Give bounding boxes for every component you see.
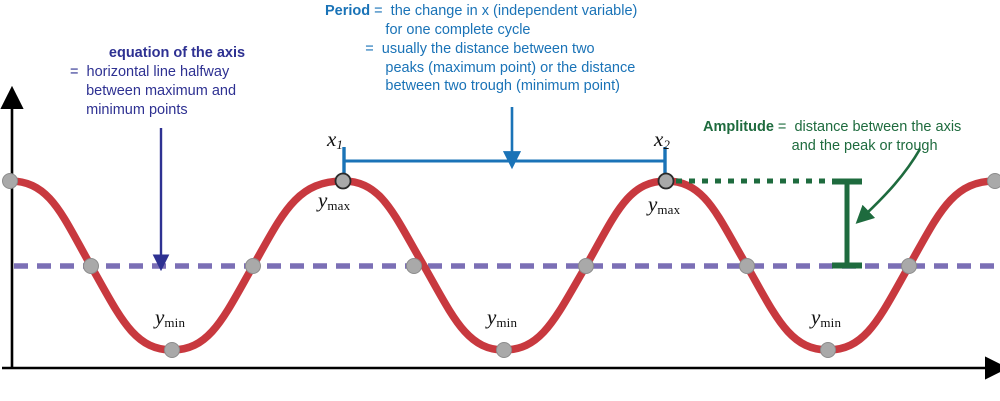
- label-ymin-1: ymin: [155, 305, 185, 331]
- period-annotation: Period = the change in x (independent va…: [325, 2, 725, 96]
- label-ymax-left: ymax: [318, 188, 350, 214]
- label-ymin-3: ymin: [811, 305, 841, 331]
- equation-of-axis-heading: equation of the axis: [62, 44, 292, 63]
- period-line-2: for one complete cycle: [325, 21, 725, 40]
- equation-of-axis-line-1: = horizontal line halfway: [70, 64, 229, 80]
- label-x2: x2: [654, 127, 670, 153]
- amplitude-annotation: Amplitude = distance between the axis an…: [703, 118, 998, 156]
- equation-of-axis-annotation: equation of the axis = horizontal line h…: [62, 44, 292, 119]
- amplitude-callout-arrow: [866, 149, 920, 214]
- amplitude-measure-bar: [832, 181, 862, 266]
- amplitude-line-2: and the peak or trough: [703, 137, 998, 156]
- diagram-canvas: equation of the axis = horizontal line h…: [0, 0, 1000, 401]
- label-x1: x1: [327, 127, 343, 153]
- equation-of-axis-line-3: minimum points: [70, 102, 188, 118]
- label-ymax-right: ymax: [648, 192, 680, 218]
- period-line-4: peaks (maximum point) or the distance: [325, 59, 725, 78]
- equation-of-axis-line-2: between maximum and: [70, 83, 236, 99]
- period-line-3: = usually the distance between two: [325, 40, 725, 59]
- period-heading: Period: [325, 3, 370, 19]
- period-line-5: between two trough (minimum point): [325, 77, 725, 96]
- period-bracket: [343, 147, 666, 175]
- period-line-1-rest: = the change in x (independent variable): [370, 3, 637, 19]
- label-ymin-2: ymin: [487, 305, 517, 331]
- peak-marker-x1: [336, 174, 351, 189]
- amplitude-line-1: Amplitude = distance between the axis: [703, 118, 998, 137]
- amplitude-line-1-rest: = distance between the axis: [774, 119, 961, 135]
- peak-marker-x2: [659, 174, 674, 189]
- amplitude-heading: Amplitude: [703, 119, 774, 135]
- period-line-1: Period = the change in x (independent va…: [325, 2, 725, 21]
